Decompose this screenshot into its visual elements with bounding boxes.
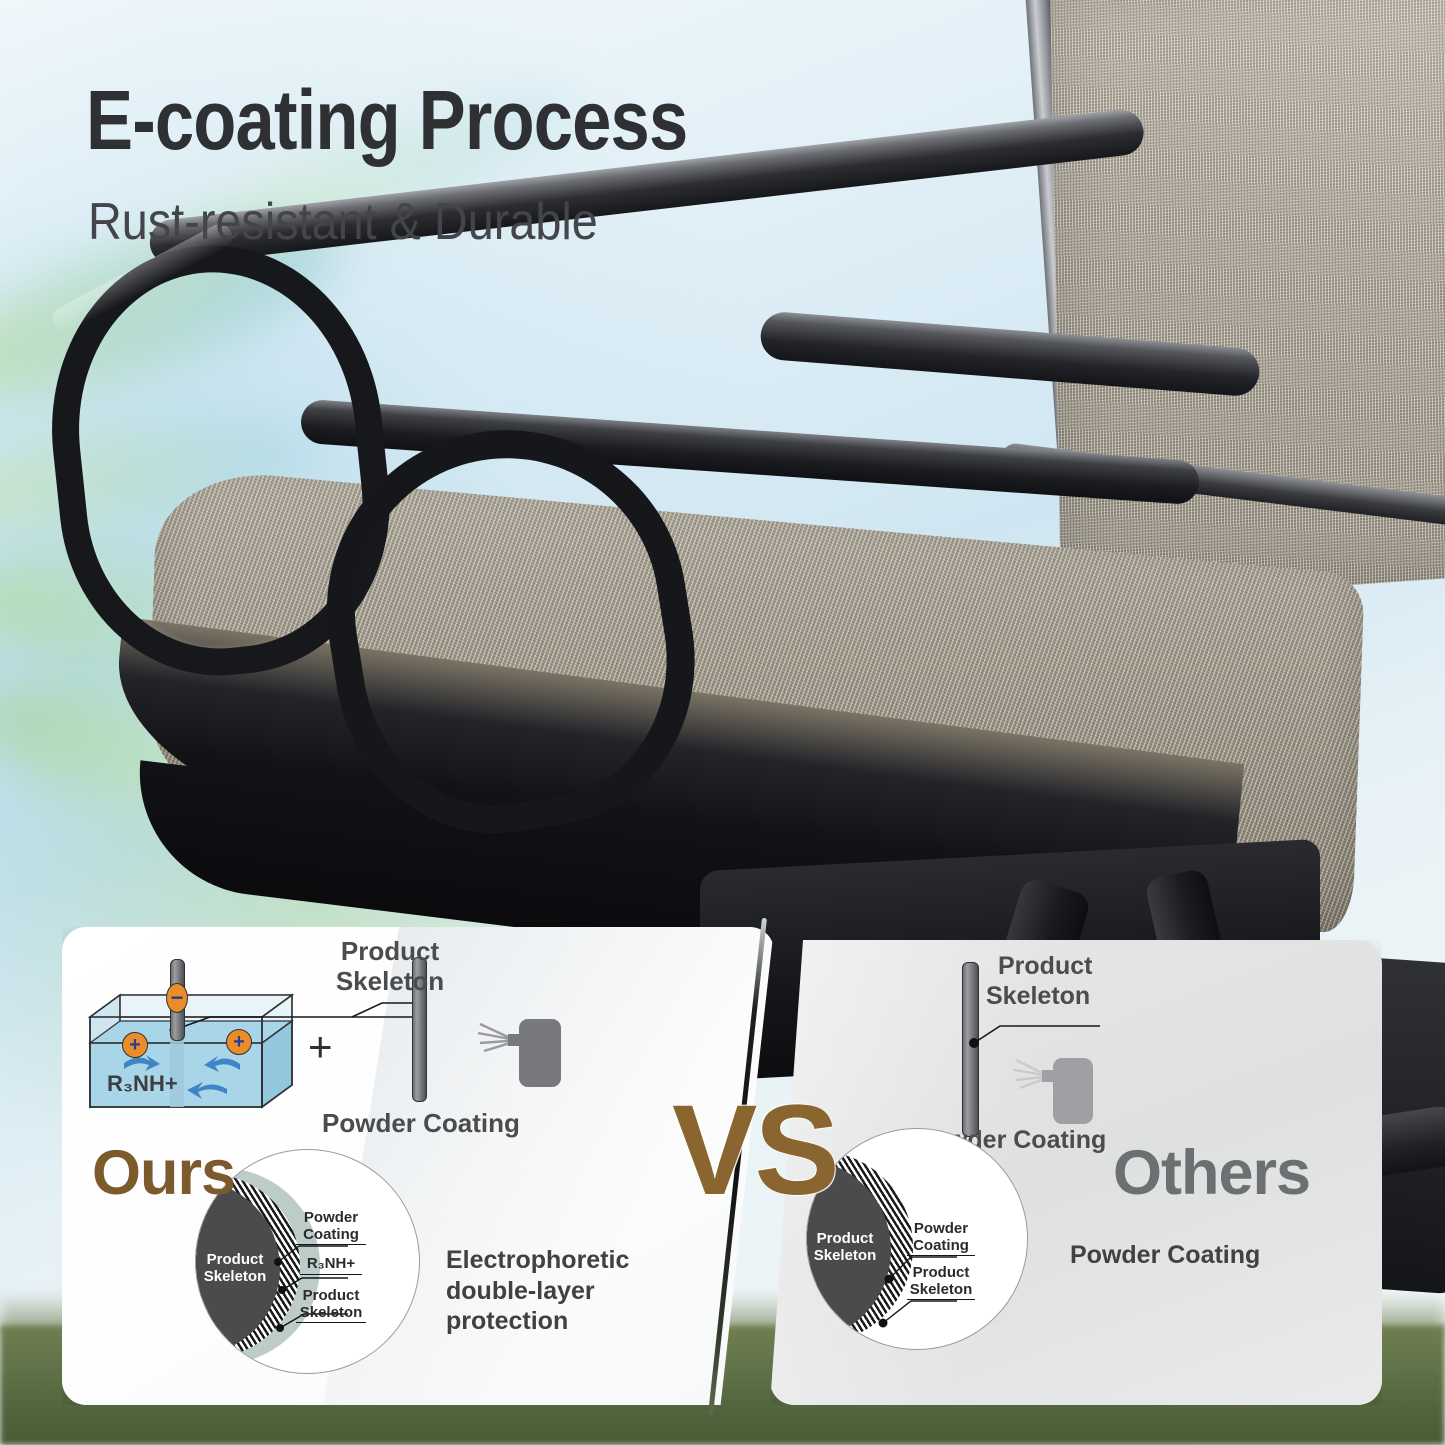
plus-sign: + xyxy=(308,1023,333,1070)
solution-formula-label: R₃NH+ xyxy=(107,1072,178,1097)
callout-line1: Product xyxy=(303,1287,360,1304)
callout-line1: Product xyxy=(913,1264,970,1281)
ours-benefit-note: Electrophoretic double-layer protection xyxy=(446,1245,706,1337)
callout-line2: Skeleton xyxy=(300,1304,363,1321)
page-subtitle: Rust-resistant & Durable xyxy=(88,196,598,248)
page-title: E-coating Process xyxy=(86,78,687,162)
infographic-canvas: E-coating Process Rust-resistant & Durab… xyxy=(0,0,1445,1445)
ours-note-line1: Electrophoretic xyxy=(446,1246,629,1274)
vs-label: VS xyxy=(672,1087,837,1215)
callout-line2: Skeleton xyxy=(910,1281,973,1298)
ours-note-line2: double-layer protection xyxy=(446,1277,595,1336)
callout-product-skeleton: Product Skeleton xyxy=(907,1265,975,1300)
callout-line2: Coating xyxy=(303,1226,359,1243)
product-skeleton-label-line1: Product xyxy=(310,937,470,966)
negative-ion-marker: − xyxy=(166,983,188,1013)
callout-powder-coating: Powder Coating xyxy=(296,1210,366,1245)
powder-spray-gun-icon xyxy=(1053,1058,1093,1124)
others-label: Others xyxy=(1113,1142,1310,1205)
positive-ion-marker: + xyxy=(122,1032,148,1058)
others-note: Powder Coating xyxy=(1070,1240,1320,1271)
others-product-skeleton-line1: Product xyxy=(998,952,1092,980)
product-skeleton-label-line2: Skeleton xyxy=(310,967,470,996)
callout-line1: Powder xyxy=(914,1220,968,1237)
powder-spray-gun-icon xyxy=(519,1019,561,1087)
others-cross-section-circle: Product Skeleton Powder Coating Product … xyxy=(806,1128,1028,1350)
ours-label: Ours xyxy=(92,1142,235,1205)
others-product-skeleton-line2: Skeleton xyxy=(986,982,1090,1010)
callout-r3nh: R₃NH+ xyxy=(300,1256,362,1275)
positive-ion-marker: + xyxy=(226,1029,252,1055)
callout-powder-coating: Powder Coating xyxy=(907,1221,975,1256)
callout-line2: Coating xyxy=(913,1237,969,1254)
callout-line1: Powder xyxy=(304,1209,358,1226)
powder-coating-label: Powder Coating xyxy=(322,1109,520,1138)
callout-product-skeleton: Product Skeleton xyxy=(296,1288,366,1323)
